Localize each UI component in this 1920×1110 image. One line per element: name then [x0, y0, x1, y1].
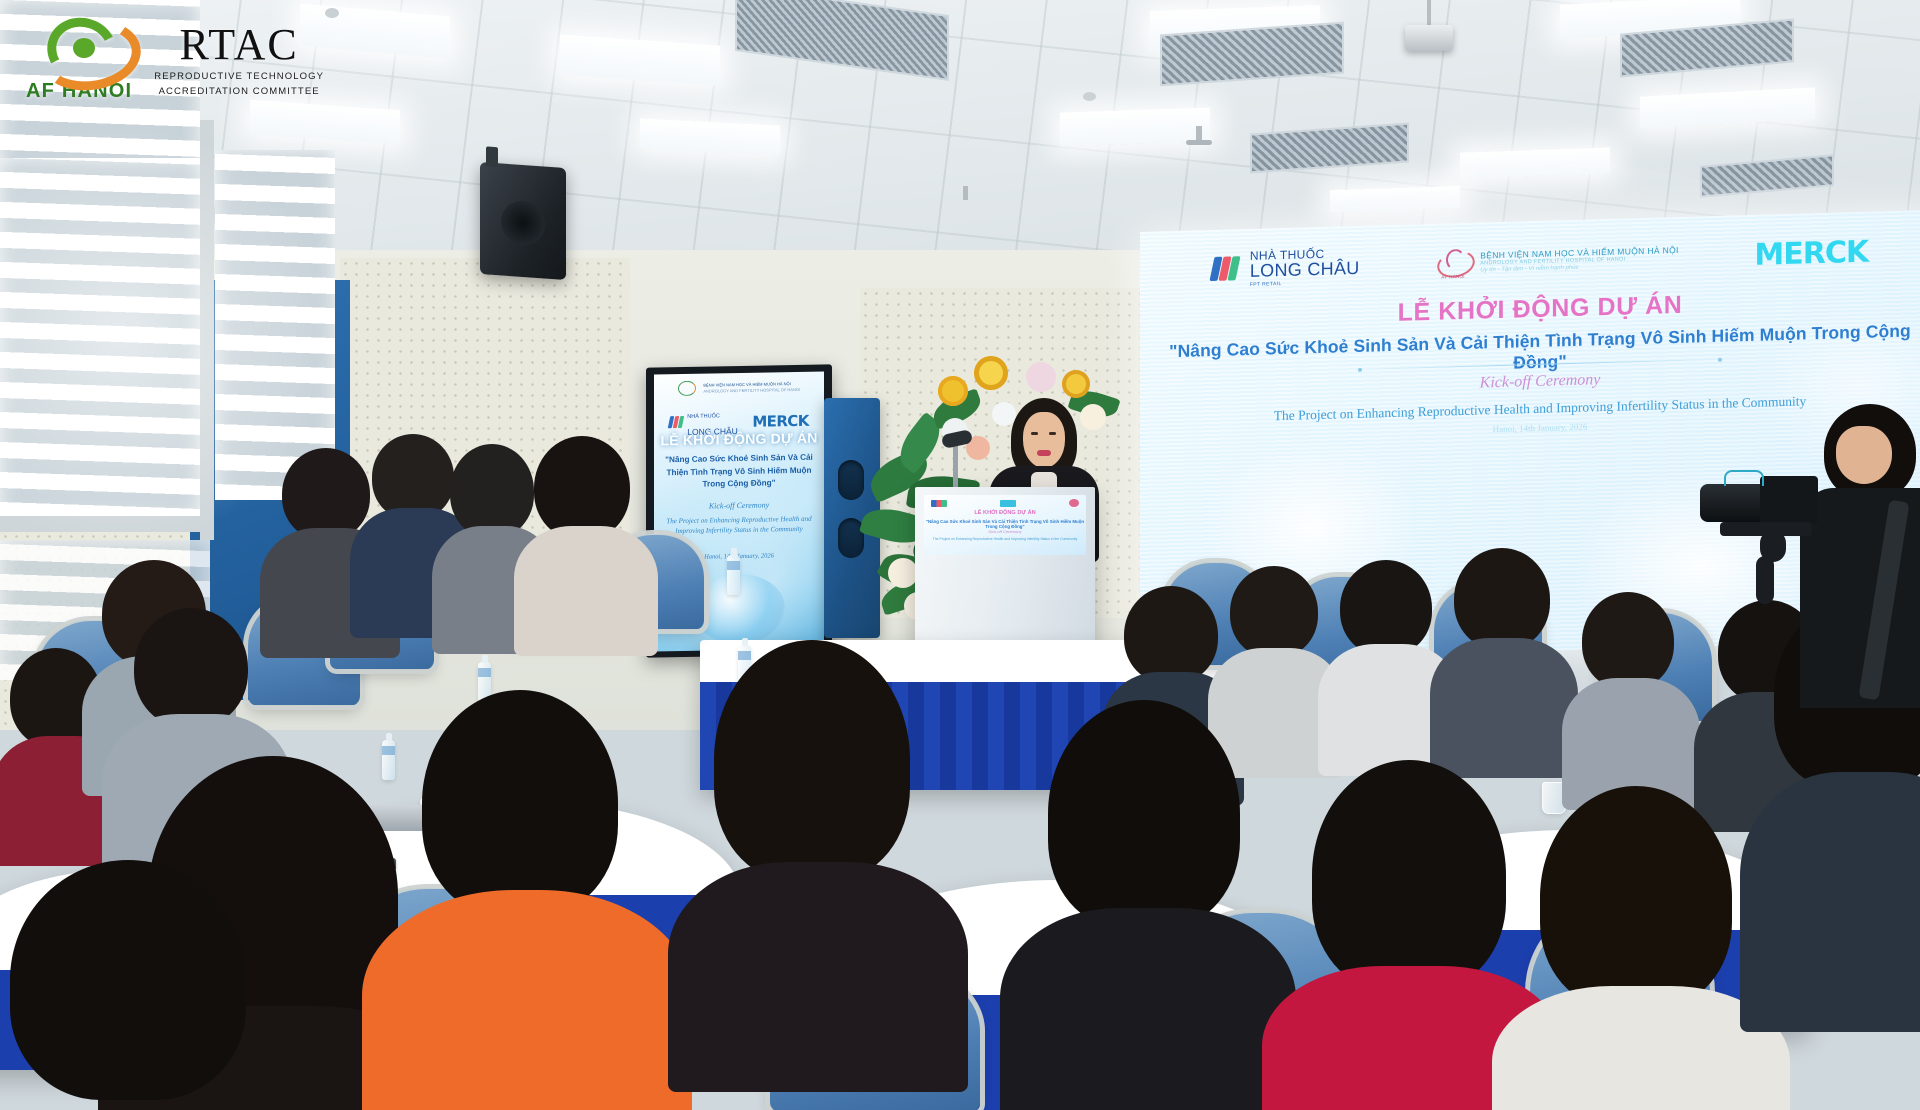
water-bottle — [727, 555, 740, 595]
speaker-eye — [1049, 432, 1056, 435]
podium-kickoff-label: Kick-off Ceremony — [924, 529, 1086, 534]
merck-wordmark: MERCK — [1754, 234, 1868, 272]
rtac-line1: REPRODUCTIVE TECHNOLOGY — [154, 72, 324, 82]
speaker-eye — [1031, 432, 1038, 435]
podium-subtitle: The Project on Enhancing Reproductive He… — [924, 537, 1086, 541]
ceiling-smoke-detector — [1083, 92, 1096, 101]
long-chau-mark-icon — [1212, 256, 1242, 283]
podium-title: LỄ KHỞI ĐỘNG DỰ ÁN — [924, 510, 1086, 516]
gimbal-handle — [1756, 556, 1774, 604]
long-chau-line2: LONG CHÂU — [1250, 259, 1360, 280]
standee-title: LỄ KHỞI ĐỘNG DỰ ÁN — [654, 430, 824, 449]
watermark-logo-overlay: AF HANOI RTAC REPRODUCTIVE TECHNOLOGY AC… — [26, 16, 324, 103]
speaker-bracket — [486, 146, 498, 167]
audience-member — [1440, 548, 1564, 748]
hospital-mark-icon — [678, 381, 696, 396]
standee-lc-line1: NHÀ THUỐC — [687, 413, 720, 420]
camera-lens — [1700, 484, 1768, 522]
wall-mounted-speaker — [480, 162, 566, 280]
window-mullion — [200, 120, 214, 540]
standee-hospital-logo: BỆNH VIỆN NAM HỌC VÀ HIẾM MUỘN HÀ NỘI AN… — [654, 378, 824, 399]
rtac-watermark: RTAC REPRODUCTIVE TECHNOLOGY ACCREDITATI… — [154, 23, 324, 96]
audience-member-foreground — [690, 640, 940, 1080]
af-hanoi-swirl-icon — [33, 16, 125, 78]
standee-hospital-en: ANDROLOGY AND FERTILITY HOSPITAL OF HANO… — [703, 387, 800, 394]
camera-top-handle — [1724, 470, 1764, 486]
speaker-face — [1023, 412, 1065, 468]
speaker-lips — [1037, 450, 1051, 456]
projector-mount-rod — [1427, 0, 1431, 26]
standee-merck-logo: MERCK — [752, 412, 808, 431]
long-chau-mark-icon — [669, 416, 684, 429]
merck-logo: MERCK — [1754, 234, 1868, 272]
speaker-driver — [501, 200, 545, 247]
ceiling-sprinkler — [1186, 140, 1212, 145]
ceiling-smoke-detector — [325, 8, 339, 18]
audience-member — [1570, 592, 1690, 782]
af-hanoi-mark-icon: AF HANOI — [1435, 247, 1473, 280]
ceiling-light — [1330, 186, 1460, 213]
rtac-line2: ACCREDITATION COMMITTEE — [159, 87, 320, 97]
long-chau-logo: NHÀ THUỐC LONG CHÂU FPT RETAIL — [1212, 247, 1360, 289]
audience-member-foreground — [392, 690, 652, 1110]
audience-member-foreground — [0, 860, 280, 1110]
camera-rig — [1700, 470, 1850, 630]
podium-af-logo — [1069, 499, 1079, 507]
af-hanoi-watermark: AF HANOI — [26, 16, 132, 103]
af-hanoi-badge: AF HANOI — [1441, 274, 1465, 280]
ceiling-projector — [1405, 25, 1453, 51]
ceiling-light — [1460, 147, 1610, 178]
speaker-grille-slot — [838, 460, 864, 500]
podium-long-chau-logo — [931, 500, 947, 507]
ceiling-sprinkler — [963, 186, 968, 200]
podium-sign: LỄ KHỞI ĐỘNG DỰ ÁN "Nâng Cao Sức Khoẻ Si… — [924, 495, 1086, 555]
audience-member-foreground — [1512, 786, 1762, 1110]
podium-quote: "Nâng Cao Sức Khoẻ Sinh Sản Và Cải Thiện… — [924, 519, 1086, 529]
standee-quote: "Nâng Cao Sức Khoẻ Sinh Sản Và Cải Thiện… — [654, 452, 824, 493]
camera-body — [1760, 476, 1818, 524]
audience-member-foreground — [1020, 700, 1270, 1110]
event-photo-canvas: NHÀ THUỐC LONG CHÂU FPT RETAIL AF HANOI … — [0, 0, 1920, 1110]
af-hanoi-hospital-logo: AF HANOI BỆNH VIỆN NAM HỌC VÀ HIẾM MUỘN … — [1435, 241, 1679, 280]
audience-member — [524, 436, 644, 626]
window-blinds — [0, 158, 200, 518]
rtac-acronym: RTAC — [180, 23, 299, 67]
window-sill — [0, 516, 214, 532]
podium-merck-logo — [1000, 500, 1016, 507]
